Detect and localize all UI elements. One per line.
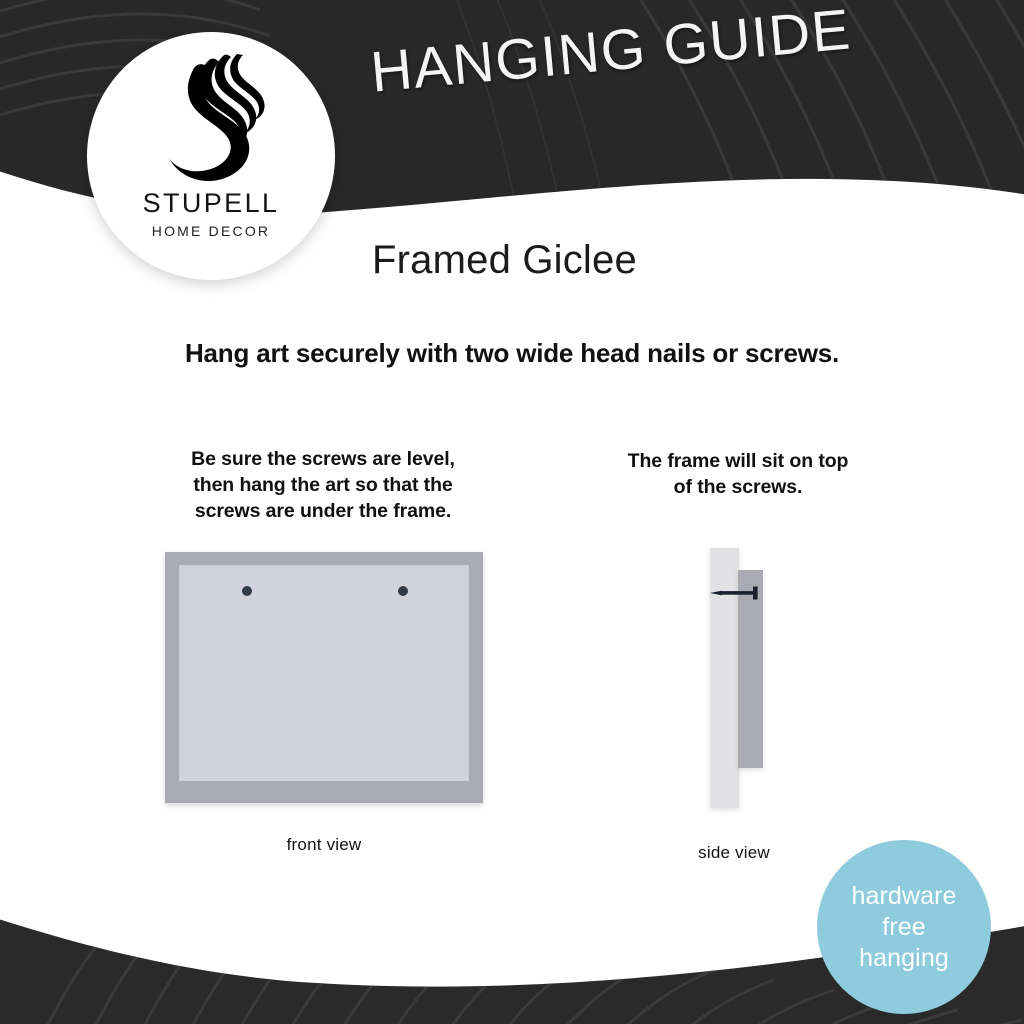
screw-dot-icon [398,586,408,596]
side-view-caption-line-2: of the screws. [592,474,884,500]
side-view-caption: The frame will sit on top of the screws. [592,448,884,500]
nail-side-icon [708,580,770,611]
front-view-caption-line-3: screws are under the frame. [155,498,491,524]
front-view-caption-line-2: then hang the art so that the [155,472,491,498]
badge-line-3: hanging [859,943,949,974]
main-instruction: Hang art securely with two wide head nai… [0,338,1024,369]
front-view-label: front view [165,835,483,855]
front-view-caption: Be sure the screws are level, then hang … [155,446,491,524]
side-view-diagram [700,540,820,820]
screw-dot-icon [242,586,252,596]
badge-line-2: free [882,912,925,943]
hardware-free-hanging-badge: hardware free hanging [817,840,991,1014]
front-view-caption-line-1: Be sure the screws are level, [155,446,491,472]
brand-name: STUPELL [143,188,280,219]
brand-logo-badge: STUPELL HOME DECOR [87,32,335,280]
side-view-label: side view [672,843,796,863]
side-view-caption-line-1: The frame will sit on top [592,448,884,474]
brand-subtitle: HOME DECOR [152,223,270,239]
stupell-swoosh-logo-icon [151,54,271,186]
hanging-guide-page: STUPELL HOME DECOR HANGING GUIDE Framed … [0,0,1024,1024]
badge-line-1: hardware [851,881,956,912]
frame-mat [179,565,469,781]
page-title: HANGING GUIDE [368,0,892,106]
product-type-label: Framed Giclee [372,238,637,283]
front-view-diagram [165,552,483,803]
